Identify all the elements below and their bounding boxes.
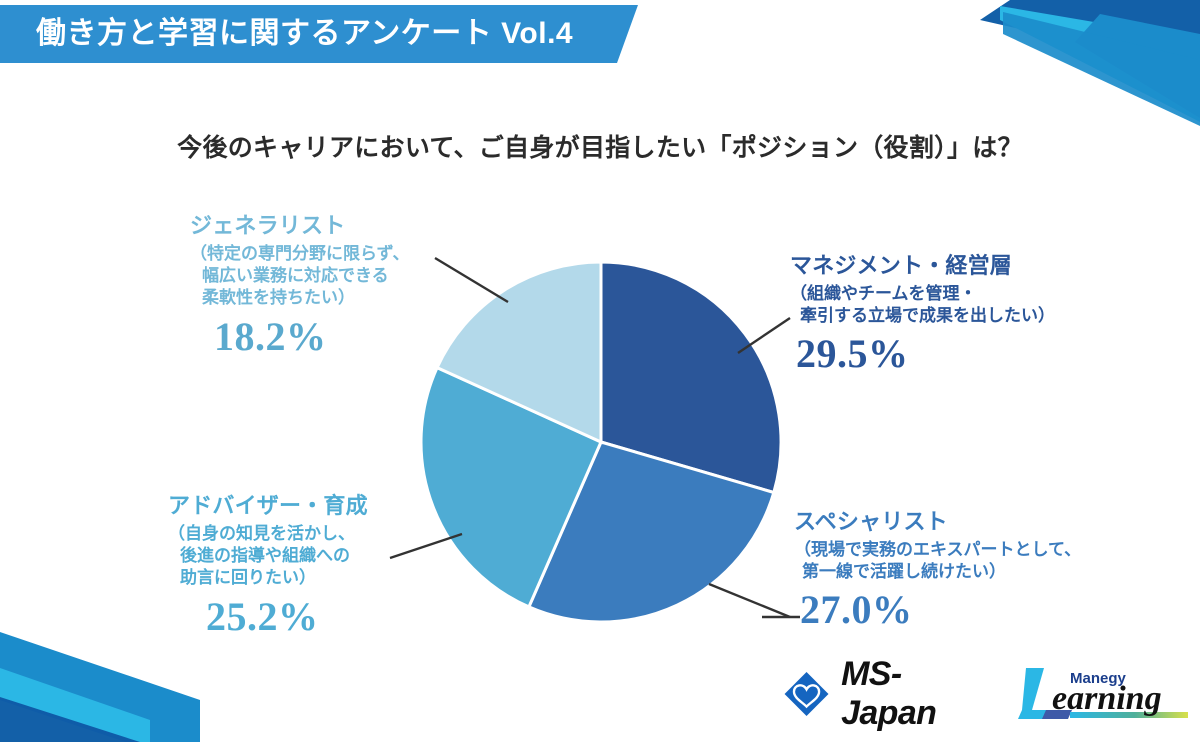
- leader-line-generalist: [435, 258, 508, 302]
- label-advisor: アドバイザー・育成 （自身の知見を活かし、 後進の指導や組織への 助言に回りたい…: [168, 492, 368, 638]
- label-management-desc-1: （組織やチームを管理・: [790, 283, 1055, 305]
- label-generalist-desc-2: 幅広い業務に対応できる: [190, 265, 409, 287]
- leader-line-advisor: [390, 534, 462, 558]
- label-advisor-desc-2: 後進の指導や組織への: [168, 545, 368, 567]
- label-specialist-value: 27.0%: [794, 589, 1081, 631]
- label-generalist-desc-1: （特定の専門分野に限らず、: [190, 243, 409, 265]
- label-specialist-desc-1: （現場で実務のエキスパートとして、: [794, 539, 1081, 561]
- ms-japan-diamond-icon: [783, 666, 830, 722]
- label-generalist-value: 18.2%: [190, 316, 409, 358]
- label-specialist: スペシャリスト （現場で実務のエキスパートとして、 第一線で活躍し続けたい） 2…: [794, 508, 1081, 631]
- poster-canvas: 働き方と学習に関するアンケート Vol.4 今後のキャリアにおいて、ご自身が目指…: [0, 0, 1200, 742]
- label-generalist-title: ジェネラリスト: [190, 212, 409, 240]
- manegy-learning-logo[interactable]: Manegy earning: [1010, 663, 1200, 725]
- leader-line-specialist: [709, 584, 790, 617]
- label-advisor-desc-3: 助言に回りたい）: [168, 567, 368, 589]
- label-management-value: 29.5%: [790, 333, 1055, 375]
- label-management-desc-2: 牽引する立場で成果を出したい）: [790, 305, 1055, 327]
- header-banner: 働き方と学習に関するアンケート Vol.4: [0, 5, 650, 63]
- logo-row: MS-Japan Manegy earning: [783, 655, 1200, 733]
- label-advisor-title: アドバイザー・育成: [168, 492, 368, 520]
- label-specialist-title: スペシャリスト: [794, 508, 1081, 536]
- label-management-title: マネジメント・経営層: [790, 252, 1055, 280]
- manegy-learning-logo-svg: Manegy earning: [1010, 663, 1200, 725]
- label-management: マネジメント・経営層 （組織やチームを管理・ 牽引する立場で成果を出したい） 2…: [790, 252, 1055, 375]
- learning-wordmark: earning: [1052, 680, 1162, 717]
- label-generalist: ジェネラリスト （特定の専門分野に限らず、 幅広い業務に対応できる 柔軟性を持ち…: [190, 212, 409, 358]
- label-advisor-value: 25.2%: [168, 596, 368, 638]
- label-advisor-desc-1: （自身の知見を活かし、: [168, 523, 368, 545]
- label-specialist-desc-2: 第一線で活躍し続けたい）: [794, 561, 1081, 583]
- ms-japan-wordmark: MS-Japan: [841, 655, 972, 733]
- ms-japan-logo[interactable]: MS-Japan: [783, 655, 972, 733]
- label-generalist-desc-3: 柔軟性を持ちたい）: [190, 287, 409, 309]
- header-banner-title: 働き方と学習に関するアンケート Vol.4: [36, 5, 573, 63]
